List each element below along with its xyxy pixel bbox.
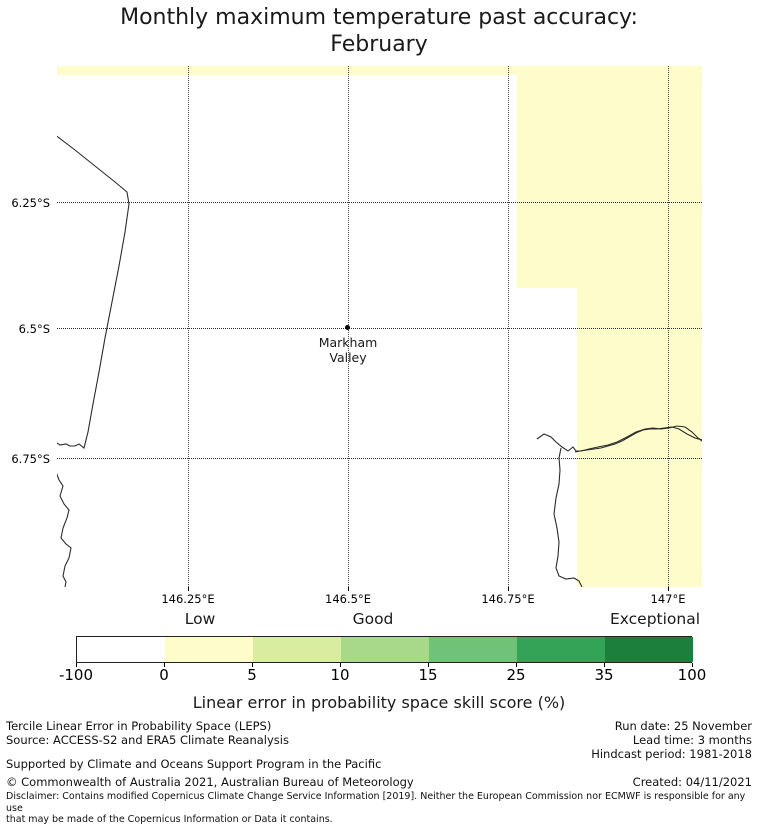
xtickmark-147 [668, 587, 669, 591]
colorbar-category-good: Good [293, 610, 453, 628]
colorbar-tick-label-15: 15 [388, 666, 468, 684]
colorbar-tick-label-35: 35 [564, 666, 644, 684]
xtick-label-147: 147°E [623, 592, 713, 606]
xtickmark-146-25 [188, 587, 189, 591]
footer-source-block: Tercile Linear Error in Probability Spac… [6, 719, 289, 747]
ytick-label-6-5: 6.5°S [0, 322, 50, 336]
footer-support-line: Supported by Climate and Oceans Support … [6, 757, 381, 771]
colorbar-tick-label-10: 10 [300, 666, 380, 684]
page-title: Monthly maximum temperature past accurac… [0, 4, 758, 58]
colorbar-category-low: Low [120, 610, 280, 628]
xtickmark-146-75 [508, 587, 509, 591]
colorbar-tick-label-5: 5 [212, 666, 292, 684]
footer-disclaimer: Disclaimer: Contains modified Copernicus… [6, 791, 752, 826]
city-label-markham-valley: Markham Valley [268, 335, 428, 365]
colorbar[interactable] [76, 636, 692, 663]
footer-copyright-line: © Commonwealth of Australia 2021, Austra… [6, 775, 414, 789]
colorbar-category-exceptional: Exceptional [575, 610, 735, 628]
xtick-label-146-25: 146.25°E [143, 592, 233, 606]
xtickmark-146-5 [348, 587, 349, 591]
colorbar-segment-10-15 [341, 637, 429, 662]
xtick-label-146-5: 146.5°E [303, 592, 393, 606]
colorbar-segment-neg100-0 [77, 637, 165, 662]
colorbar-segment-15-25 [429, 637, 517, 662]
map-plot-area[interactable]: Markham Valley [57, 66, 702, 587]
skill-score-raster [57, 66, 702, 587]
colorbar-segment-35-100 [605, 637, 693, 662]
ytick-label-6-25: 6.25°S [0, 196, 50, 210]
footer: Tercile Linear Error in Probability Spac… [0, 719, 758, 816]
xtick-label-146-75: 146.75°E [463, 592, 553, 606]
colorbar-segment-0-5 [165, 637, 253, 662]
colorbar-segment-5-10 [253, 637, 341, 662]
colorbar-segment-25-35 [517, 637, 605, 662]
colorbar-caption: Linear error in probability space skill … [0, 693, 758, 712]
city-marker-markham-valley[interactable] [345, 325, 350, 330]
colorbar-tick-label-neg100: -100 [36, 666, 116, 684]
footer-created-line: Created: 04/11/2021 [633, 775, 752, 789]
colorbar-tick-label-0: 0 [124, 666, 204, 684]
colorbar-tick-label-25: 25 [476, 666, 556, 684]
footer-run-info-block: Run date: 25 November Lead time: 3 month… [591, 719, 752, 761]
colorbar-tick-label-100: 100 [652, 666, 732, 684]
skill-cells [57, 66, 702, 587]
ytick-label-6-75: 6.75°S [0, 452, 50, 466]
